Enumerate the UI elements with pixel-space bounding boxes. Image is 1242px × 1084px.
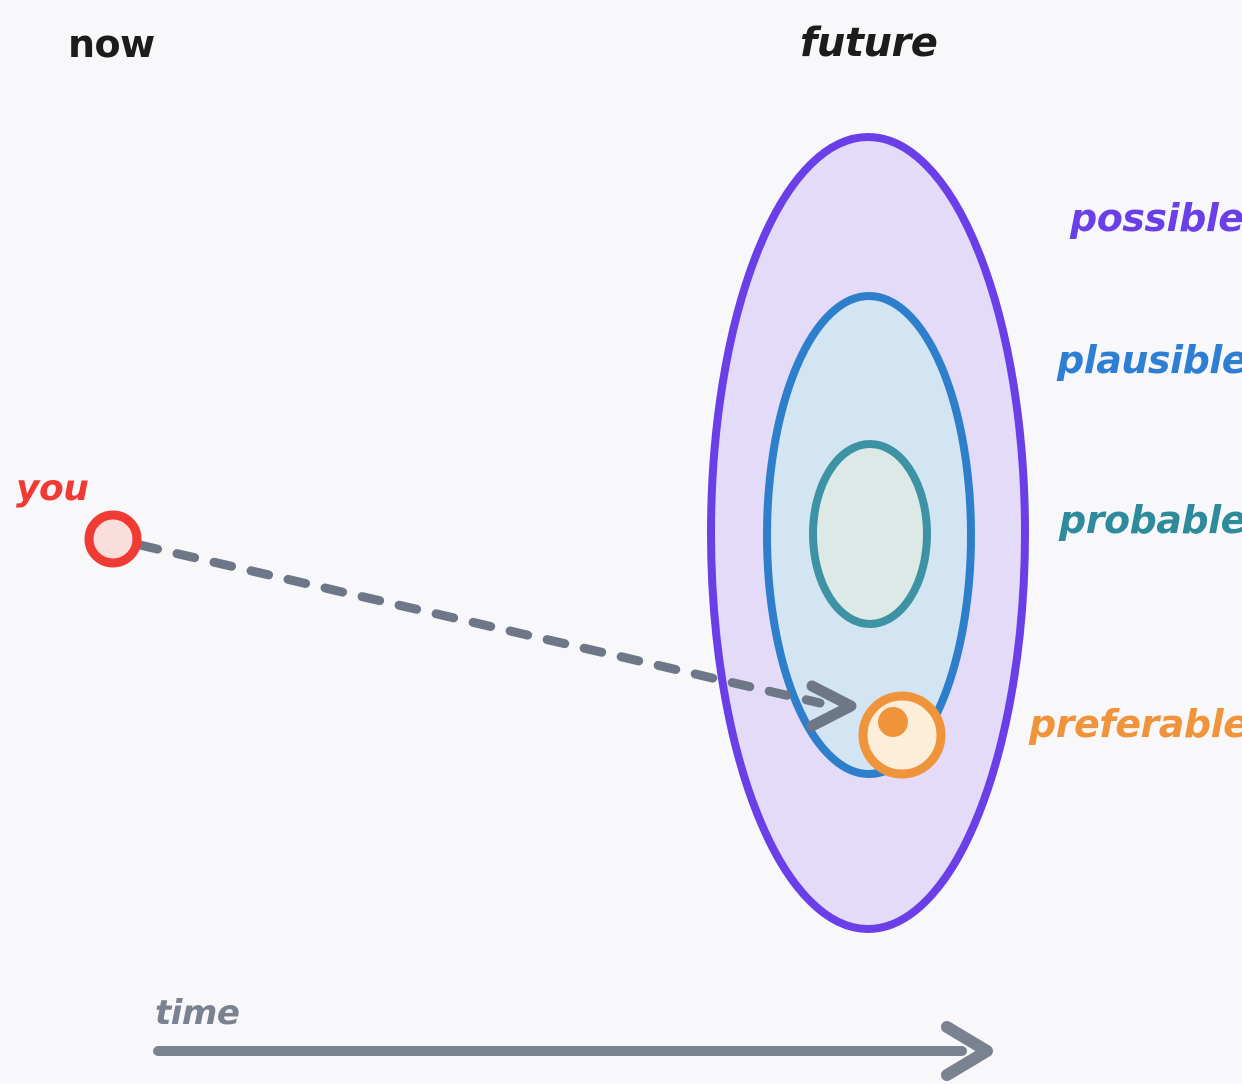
futures-cone-figure [0,0,1242,1084]
label-now: now [68,22,155,66]
label-future: future [800,20,937,66]
preferable-marker-dot-icon [878,707,908,737]
label-time: time [155,993,239,1033]
label-preferable: preferable [1029,702,1242,746]
label-plausible: plausible [1057,338,1242,382]
label-probable: probable [1059,498,1242,542]
you-marker[interactable] [89,515,137,563]
cone-ellipse-probable[interactable] [813,444,927,624]
diagram-canvas: now future you possible plausible probab… [0,0,1242,1084]
preferable-marker[interactable] [863,696,941,774]
label-you: you [16,468,88,509]
label-possible: possible [1070,196,1242,240]
